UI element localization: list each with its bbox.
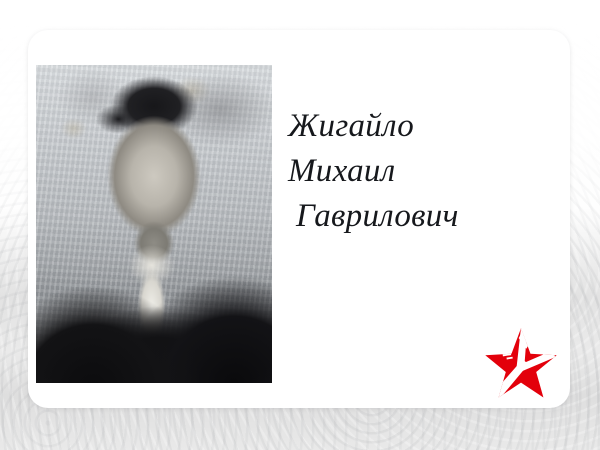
- memorial-card: Жигайло Михаил Гаврилович: [28, 30, 570, 408]
- person-first-name: Михаил: [288, 149, 548, 194]
- portrait-photo-vignette: [36, 65, 272, 383]
- portrait-photo-frame: [36, 65, 272, 383]
- memorial-card-page: Жигайло Михаил Гаврилович: [0, 0, 600, 450]
- person-name-block: Жигайло Михаил Гаврилович: [286, 104, 548, 239]
- person-surname: Жигайло: [288, 104, 548, 149]
- person-patronymic: Гаврилович: [296, 194, 548, 239]
- red-star-icon: [483, 326, 559, 402]
